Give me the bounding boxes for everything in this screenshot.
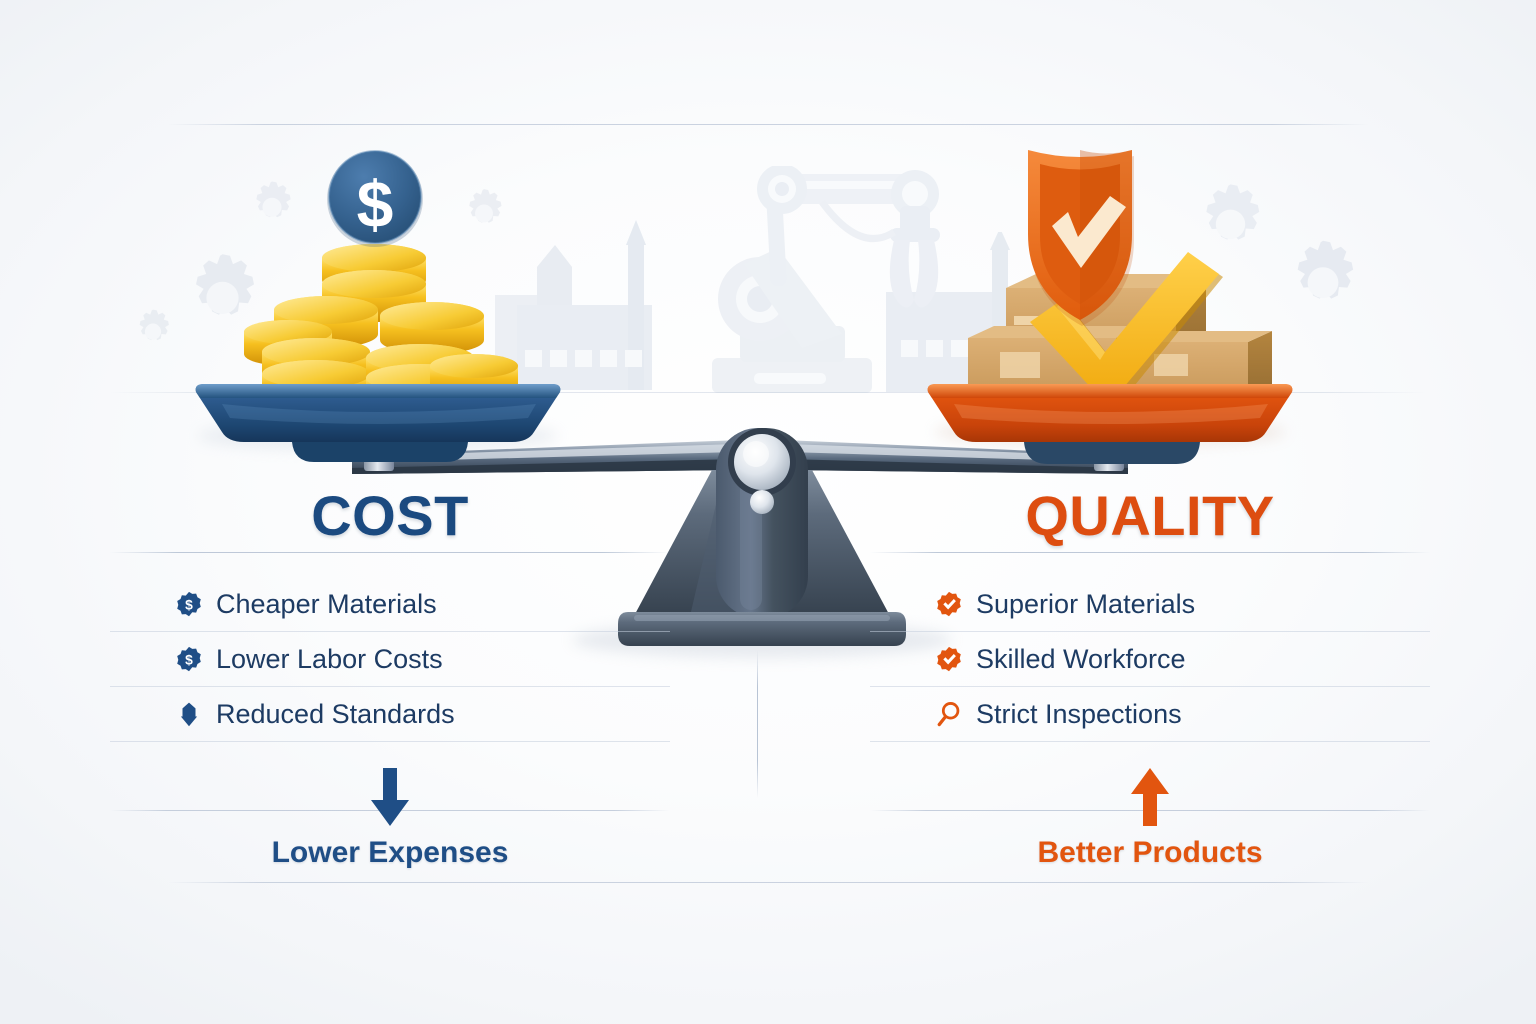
summary-cost: Lower Expenses xyxy=(110,768,670,888)
svg-text:$: $ xyxy=(185,597,193,613)
list-item[interactable]: Superior Materials xyxy=(870,577,1430,632)
list-item-label: Cheaper Materials xyxy=(216,589,437,620)
list-item[interactable]: Skilled Workforce xyxy=(870,632,1430,687)
dollar-circle-icon: $ xyxy=(327,151,423,247)
infographic-canvas: $ xyxy=(0,0,1536,1024)
magnifier-icon xyxy=(936,701,962,727)
svg-text:$: $ xyxy=(357,167,394,241)
list-item[interactable]: Reduced Standards xyxy=(110,687,670,742)
list-item-label: Skilled Workforce xyxy=(976,644,1186,675)
list-cost: $ Cheaper Materials $ Lower Labor Costs … xyxy=(110,577,670,742)
title-rule-left xyxy=(110,552,670,553)
arrow-down-icon xyxy=(367,768,413,826)
dollar-badge-icon: $ xyxy=(176,591,202,617)
pan-left-cost xyxy=(196,244,561,462)
page-title-quality: QUALITY xyxy=(870,486,1430,546)
check-badge-icon xyxy=(936,591,962,617)
arrow-up-icon xyxy=(1127,768,1173,826)
title-rule-right xyxy=(870,552,1430,553)
svg-text:$: $ xyxy=(185,652,193,668)
list-item[interactable]: $ Cheaper Materials xyxy=(110,577,670,632)
summary-caption: Better Products xyxy=(870,836,1430,870)
check-badge-icon xyxy=(936,646,962,672)
list-quality: Superior Materials Skilled Workforce Str… xyxy=(870,577,1430,742)
dollar-badge-icon: $ xyxy=(176,646,202,672)
list-item-label: Strict Inspections xyxy=(976,699,1182,730)
summary-caption: Lower Expenses xyxy=(110,836,670,870)
list-item[interactable]: $ Lower Labor Costs xyxy=(110,632,670,687)
down-arrow-badge-icon xyxy=(176,701,202,727)
summary-quality: Better Products xyxy=(870,768,1430,888)
column-quality: QUALITY Superior Materials Skilled Workf… xyxy=(870,486,1430,888)
list-item-label: Superior Materials xyxy=(976,589,1195,620)
list-item-label: Lower Labor Costs xyxy=(216,644,443,675)
column-cost: COST $ Cheaper Materials $ Lower Labor C… xyxy=(110,486,670,888)
page-title-cost: COST xyxy=(110,486,670,546)
gold-coin-stacks xyxy=(244,244,518,406)
list-item[interactable]: Strict Inspections xyxy=(870,687,1430,742)
list-item-label: Reduced Standards xyxy=(216,699,455,730)
